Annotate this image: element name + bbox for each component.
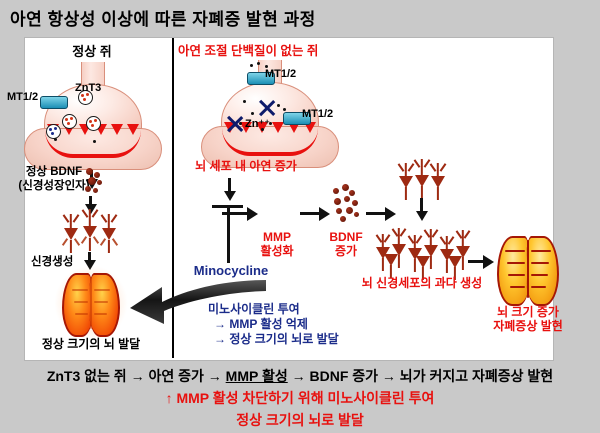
overproduction-label: 뇌 신경세포의 과다 생성: [362, 277, 482, 290]
diagram-root: 아연 항상성 이상에 따른 자폐증 발현 과정 정상 쥐 ZnT3 MT1/2 …: [0, 0, 600, 433]
summary-line-3: 정상 크기의 뇌로 발달: [0, 410, 600, 430]
summary-line1-part-b: → BDNF 증가 → 뇌가 커지고 자폐증상 발현: [288, 368, 553, 384]
middle-panel-header: 아연 조절 단백질이 없는 쥐: [178, 44, 318, 58]
normal-brain-caption: 정상 크기의 뇌 발달: [42, 338, 140, 351]
treatment-line3: → 정상 크기의 뇌로 발달: [214, 333, 339, 346]
inhibition-bar: [212, 205, 243, 208]
enlarged-brain: [497, 236, 559, 302]
vesicle-icon: [46, 124, 61, 139]
zinc-increase-label: 뇌 세포 내 아연 증가: [195, 160, 297, 173]
arrow-right-icon: [247, 207, 258, 221]
enlarged-brain-caption-line2: 자폐증상 발현: [493, 320, 563, 333]
normal-brain: [62, 273, 120, 333]
enlarged-brain-caption-line1: 뇌 크기 증가: [497, 306, 559, 319]
mmp-activation-line2: 활성화: [260, 245, 293, 258]
neurogenesis-label: 신경생성: [31, 256, 73, 269]
mt12-label: MT1/2: [7, 91, 38, 103]
page-title: 아연 항상성 이상에 따른 자폐증 발현 과정: [10, 5, 316, 30]
arrow-right-icon: [319, 207, 330, 221]
active-mmp-icon: [263, 199, 297, 231]
mt12-label-right: MT1/2: [302, 108, 333, 120]
blocked-vesicle-icon: [257, 98, 277, 118]
minocycline-label: Minocycline: [194, 264, 268, 279]
bdnf-increase-line2: 증가: [335, 245, 357, 258]
mt12-label-top: MT1/2: [265, 68, 296, 80]
arrow-right-icon: [385, 207, 396, 221]
zinc-ion-label: Zn⁺⁺: [245, 118, 270, 130]
treatment-line2: → MMP 활성 억제: [214, 318, 308, 331]
arrow-down-icon: [224, 191, 236, 201]
treatment-line1: 미노사이클린 투여: [208, 303, 300, 316]
blocked-vesicle-icon: [225, 114, 245, 134]
bdnf-increase-line1: BDNF: [329, 231, 362, 244]
normal-bdnf-label-line1: 정상 BDNF: [26, 166, 82, 179]
znt3-label: ZnT3: [75, 82, 101, 94]
inhibition-line: [227, 205, 230, 263]
mmp-activation-line1: MMP: [263, 231, 291, 244]
summary-line-2: ↑ MMP 활성 차단하기 위해 미노사이클린 투여: [0, 388, 600, 408]
summary-block: ZnT3 없는 쥐 → 아연 증가 → MMP 활성 → BDNF 증가 → 뇌…: [0, 366, 600, 430]
arrow-right-icon: [483, 255, 494, 269]
arrow-down-icon: [416, 211, 428, 221]
summary-line1-part-a: ZnT3 없는 쥐 → 아연 증가 →: [47, 368, 226, 384]
summary-line1-underlined: MMP 활성: [226, 368, 288, 384]
vesicle-icon: [86, 116, 101, 131]
mt-transporter-icon: [40, 96, 68, 109]
normal-synapse: [18, 62, 168, 174]
normal-bdnf-label-line2: (신경성장인자): [18, 180, 89, 193]
vesicle-icon: [62, 114, 77, 129]
summary-line-1: ZnT3 없는 쥐 → 아연 증가 → MMP 활성 → BDNF 증가 → 뇌…: [0, 366, 600, 386]
left-panel-header: 정상 쥐: [72, 45, 112, 60]
